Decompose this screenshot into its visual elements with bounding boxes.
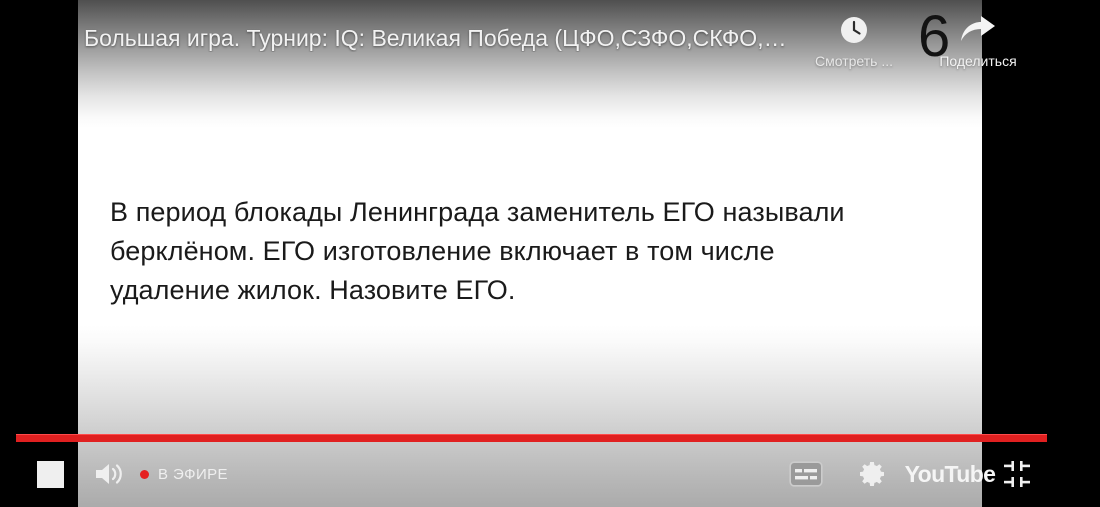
subtitles-icon — [789, 461, 823, 487]
youtube-wordmark[interactable]: YouTube — [902, 441, 998, 507]
settings-button[interactable] — [848, 441, 896, 507]
overlay-countdown-number: 6 — [918, 8, 950, 66]
player-bottom-controls: В ЭФИРЕ YouTube — [0, 441, 1100, 507]
stop-square-icon — [37, 461, 64, 488]
watch-later-button[interactable]: Смотреть ... — [798, 12, 910, 69]
volume-icon — [93, 460, 125, 488]
video-title[interactable]: Большая игра. Турнир: IQ: Великая Победа… — [84, 24, 804, 52]
live-label: В ЭФИРЕ — [158, 466, 228, 483]
stop-button[interactable] — [28, 441, 72, 507]
question-line-1: В период блокады Ленинграда заменитель Е… — [110, 193, 950, 232]
live-indicator-dot — [140, 470, 149, 479]
question-text-block: В период блокады Ленинграда заменитель Е… — [110, 193, 950, 310]
exit-fullscreen-button[interactable] — [994, 441, 1040, 507]
question-line-2: берклёном. ЕГО изготовление включает в т… — [110, 232, 950, 271]
volume-button[interactable] — [86, 441, 132, 507]
clock-icon — [798, 15, 910, 51]
subtitles-button[interactable] — [782, 441, 830, 507]
watch-later-label: Смотреть ... — [798, 53, 910, 69]
question-line-3: удаление жилок. Назовите ЕГО. — [110, 271, 950, 310]
progress-bar-track[interactable] — [16, 434, 1047, 441]
youtube-video-player[interactable]: В период блокады Ленинграда заменитель Е… — [0, 0, 1100, 507]
exit-fullscreen-icon — [1003, 460, 1031, 488]
gear-icon — [857, 459, 887, 489]
live-badge[interactable]: В ЭФИРЕ — [140, 441, 270, 507]
